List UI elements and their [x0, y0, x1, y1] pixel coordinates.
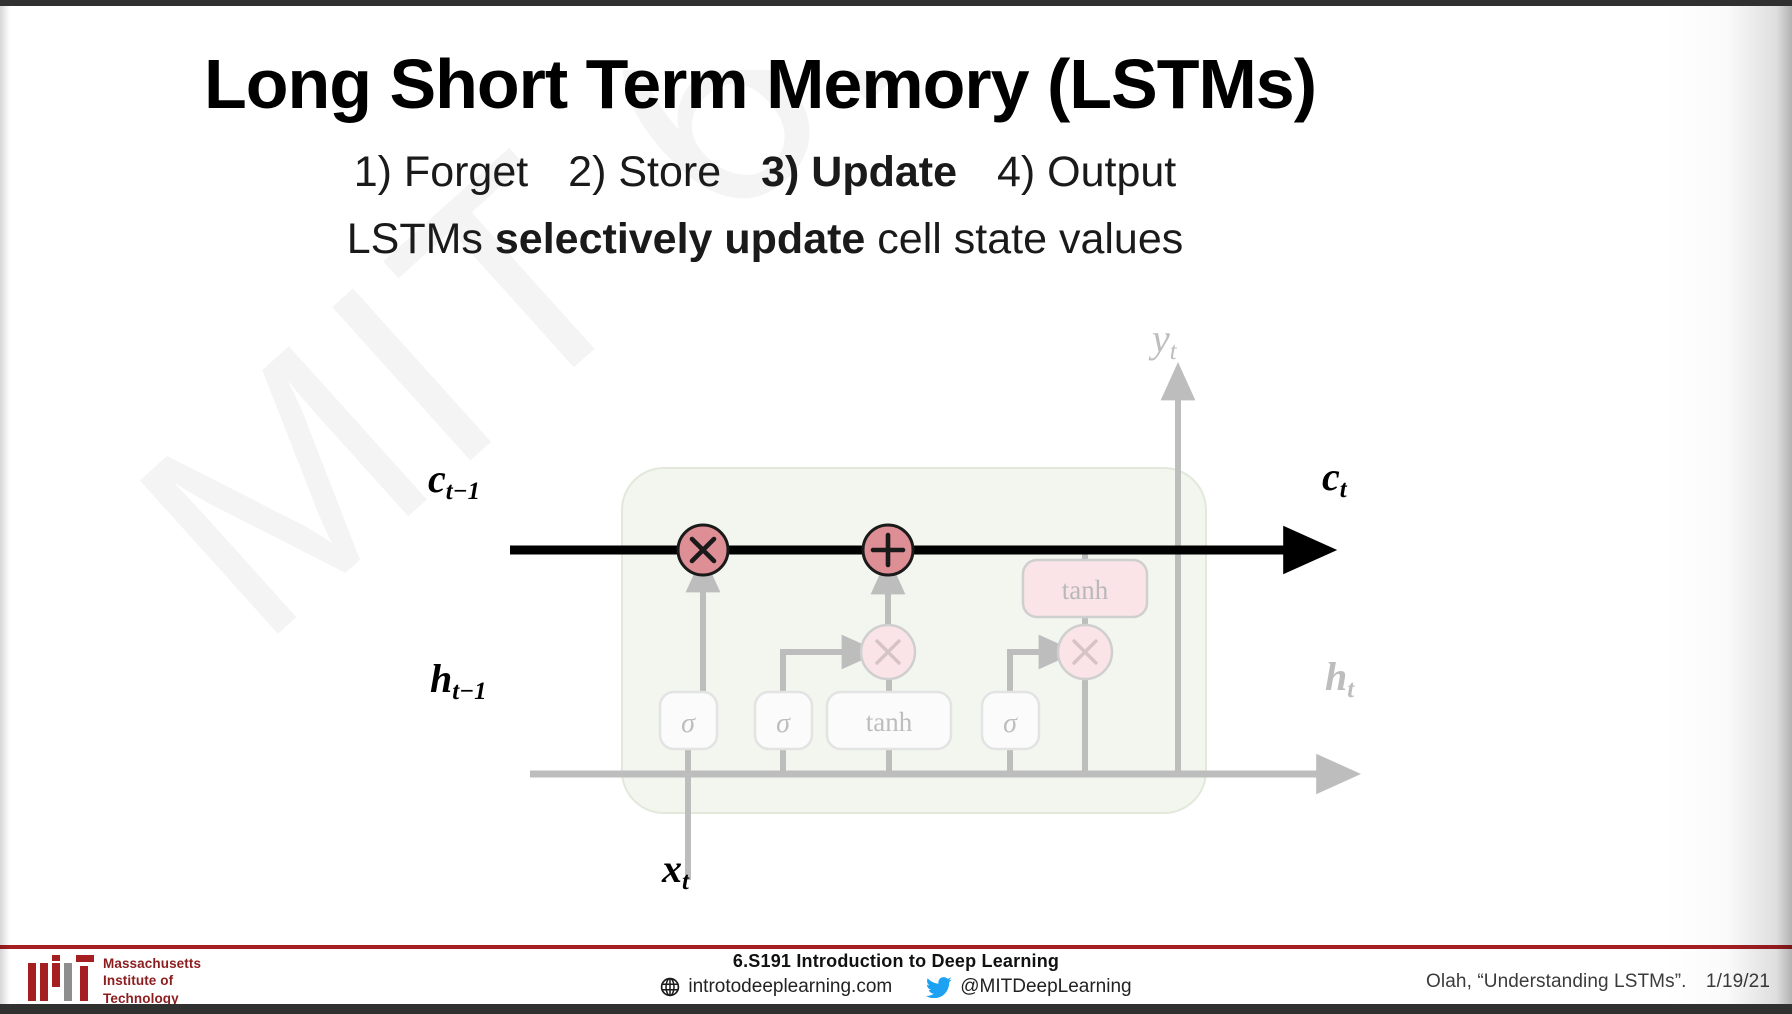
- label-c-out: ct: [1322, 453, 1347, 500]
- label-c-prev-base: c: [428, 456, 446, 501]
- course-title: 6.S191 Introduction to Deep Learning: [0, 951, 1792, 972]
- footer: Massachusetts Institute of Technology 6.…: [0, 949, 1792, 1004]
- label-c-prev-sub: t−1: [446, 478, 480, 505]
- subtitle-post: cell state values: [865, 215, 1183, 263]
- twitter-link[interactable]: @MITDeepLearning: [926, 976, 1131, 998]
- citation-date: 1/19/21: [1706, 971, 1770, 992]
- label-y-out: yt: [1152, 315, 1177, 362]
- cell-state-tanh-label: tanh: [1062, 575, 1109, 605]
- label-c-out-base: c: [1322, 454, 1340, 499]
- label-c-out-sub: t: [1340, 476, 1347, 503]
- citation: Olah, “Understanding LSTMs”. 1/19/21: [1426, 971, 1770, 993]
- step-store: 2) Store: [568, 148, 721, 196]
- step-update: 3) Update: [761, 148, 957, 196]
- website-label: introtodeeplearning.com: [688, 976, 892, 998]
- website-link[interactable]: introtodeeplearning.com: [660, 976, 892, 998]
- label-h-prev: ht−1: [430, 655, 487, 702]
- slide-title: Long Short Term Memory (LSTMs): [0, 44, 1520, 124]
- step-list: 1) Forget 2) Store 3) Update 4) Output: [0, 148, 1530, 197]
- output-multiply-op: [1058, 625, 1112, 679]
- subtitle-pre: LSTMs: [347, 215, 495, 263]
- twitter-bird-icon: [926, 977, 952, 998]
- label-c-prev: ct−1: [428, 455, 480, 502]
- svg-text:σ: σ: [1003, 708, 1018, 739]
- label-h-out: ht: [1325, 653, 1354, 700]
- label-h-out-base: h: [1325, 654, 1347, 699]
- lstm-cell-body: [622, 468, 1206, 813]
- label-y-out-base: y: [1152, 316, 1170, 361]
- svg-text:σ: σ: [776, 708, 791, 739]
- label-x-in-sub: t: [682, 868, 689, 895]
- input-multiply-op: [861, 625, 915, 679]
- slide-canvas: MIT 6.S191 Long Short Term Memory (LSTMs…: [0, 0, 1792, 1014]
- step-forget: 1) Forget: [354, 148, 528, 196]
- forget-multiply-op: [678, 525, 728, 575]
- svg-text:tanh: tanh: [866, 707, 913, 737]
- label-h-out-sub: t: [1347, 676, 1354, 703]
- label-x-in-base: x: [662, 846, 682, 891]
- citation-text: Olah, “Understanding LSTMs”.: [1426, 971, 1686, 992]
- cell-state-tanh-box: tanh: [1023, 560, 1147, 617]
- twitter-label: @MITDeepLearning: [960, 976, 1131, 998]
- label-h-prev-base: h: [430, 656, 452, 701]
- label-y-out-sub: t: [1170, 338, 1177, 365]
- svg-text:σ: σ: [681, 708, 696, 739]
- step-output: 4) Output: [997, 148, 1176, 196]
- subtitle-emphasis: selectively update: [495, 215, 865, 263]
- label-h-prev-sub: t−1: [452, 678, 486, 705]
- page-edge-bottom: [0, 1004, 1792, 1014]
- gate-boxes: σ σ tanh σ: [660, 692, 1039, 749]
- slide-subtitle: LSTMs selectively update cell state valu…: [0, 215, 1530, 264]
- label-x-in: xt: [662, 845, 689, 892]
- state-add-op: [863, 525, 913, 575]
- page-edge-top: [0, 0, 1792, 6]
- globe-icon: [660, 977, 680, 997]
